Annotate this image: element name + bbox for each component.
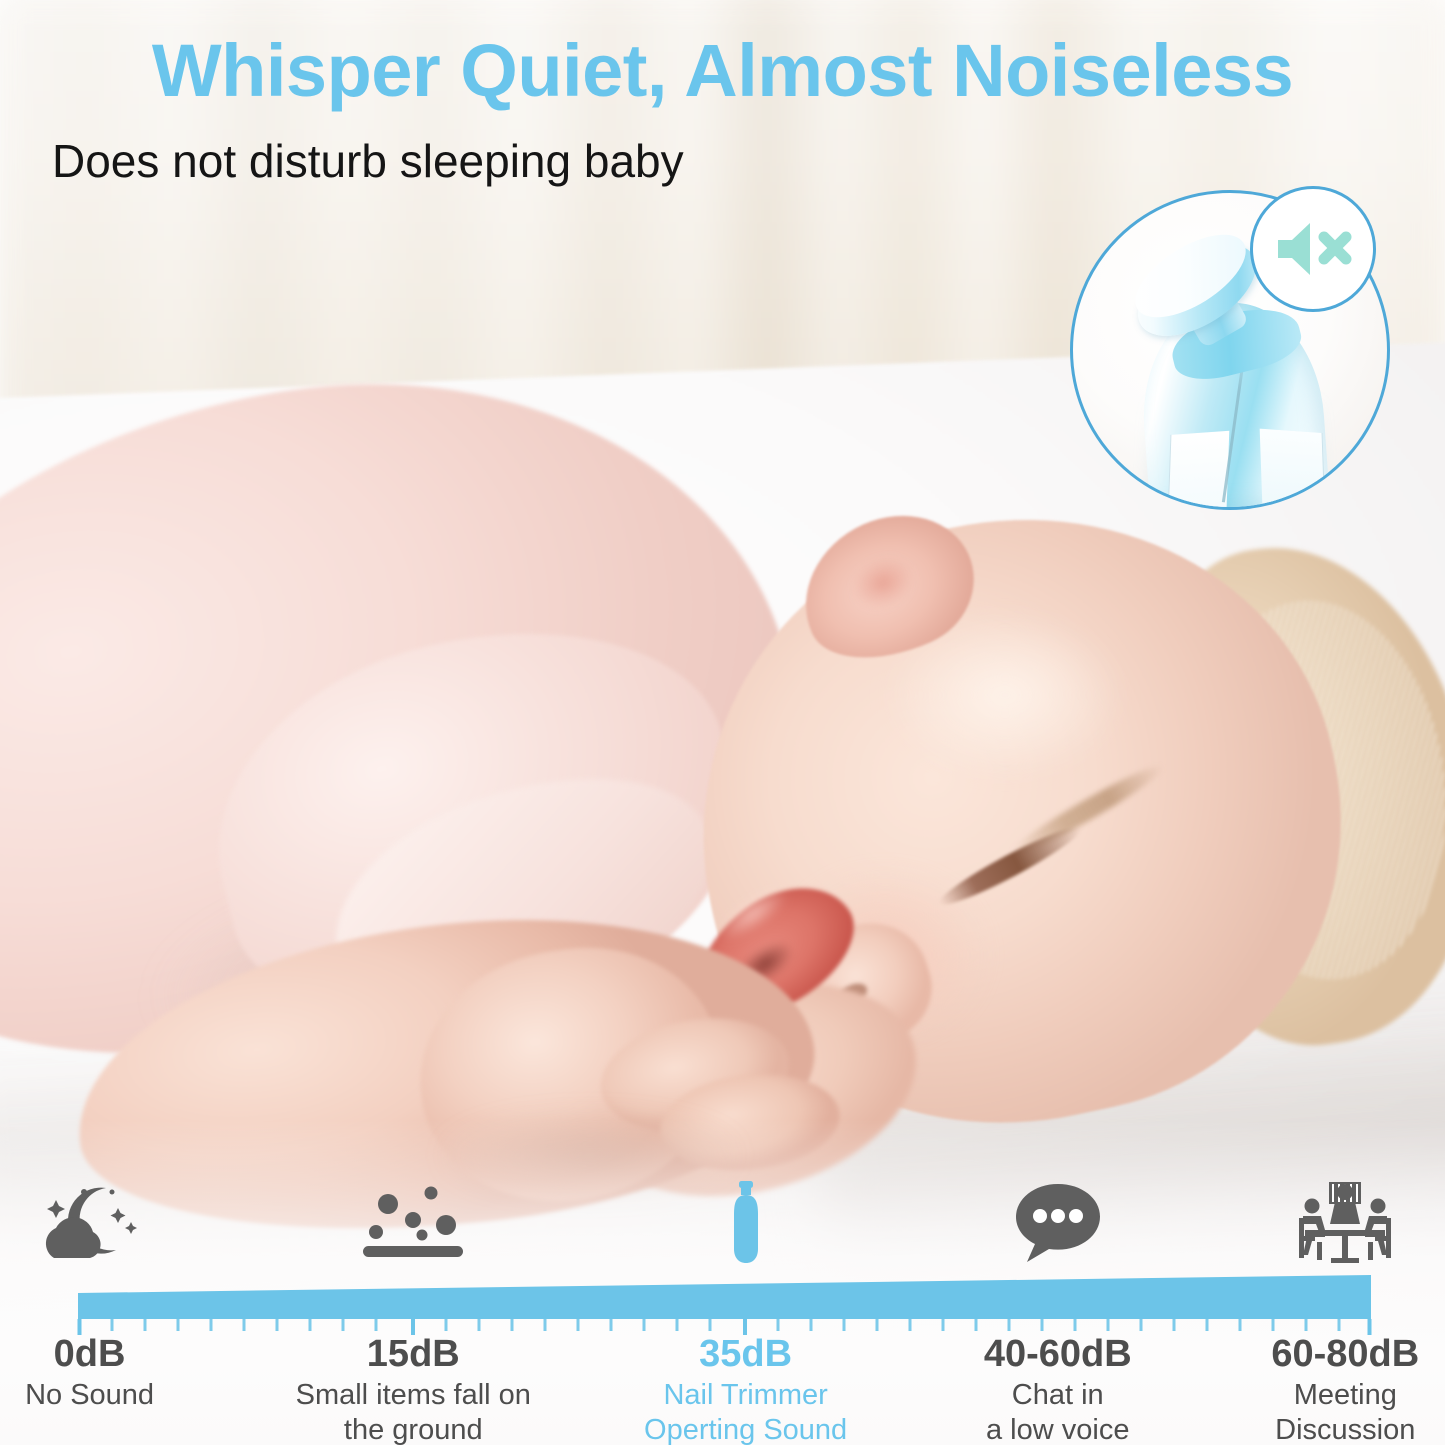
nail-trimmer-blade xyxy=(1168,431,1230,510)
scale-db-description: No Sound xyxy=(25,1378,154,1413)
chat-bubble-icon xyxy=(1012,1180,1104,1271)
scale-icon-row xyxy=(0,1185,1445,1271)
meeting-people-icon xyxy=(1297,1180,1393,1271)
scale-db-description: Small items fall on xyxy=(296,1378,531,1413)
scale-label-15db: 15dB Small items fall on the ground xyxy=(296,1335,531,1445)
scale-label-40-60db: 40-60dB Chat in a low voice xyxy=(984,1335,1132,1445)
product-inset xyxy=(1070,190,1390,510)
decibel-scale: 0dB No Sound 15dB Small items fall on th… xyxy=(0,1185,1445,1445)
scale-db-description: Nail Trimmer xyxy=(644,1378,847,1413)
scale-db-value: 40-60dB xyxy=(984,1335,1132,1375)
scale-db-description: Chat in xyxy=(984,1378,1132,1413)
scale-db-description: the ground xyxy=(296,1413,531,1445)
nail-trimmer-blade xyxy=(1260,429,1326,510)
page-title: Whisper Quiet, Almost Noiseless xyxy=(0,28,1445,113)
decibel-ruler xyxy=(0,1263,1445,1335)
scale-db-description: Discussion xyxy=(1271,1413,1419,1445)
page-subtitle: Does not disturb sleeping baby xyxy=(52,134,684,188)
scale-label-35db: 35dB Nail Trimmer Operting Sound xyxy=(644,1335,847,1445)
moon-cloud-stars-icon xyxy=(38,1180,142,1271)
promo-image-root: Whisper Quiet, Almost Noiseless Does not… xyxy=(0,0,1445,1445)
scale-db-value: 60-80dB xyxy=(1271,1335,1419,1375)
scale-db-value: 0dB xyxy=(25,1335,154,1375)
scale-db-value: 35dB xyxy=(644,1335,847,1375)
scale-label-0db: 0dB No Sound xyxy=(25,1335,154,1413)
scale-db-description: a low voice xyxy=(984,1413,1132,1445)
speaker-mute-icon xyxy=(1250,186,1376,312)
scale-db-description: Meeting xyxy=(1271,1378,1419,1413)
scale-label-60-80db: 60-80dB Meeting Discussion xyxy=(1271,1335,1419,1445)
nail-trimmer-icon xyxy=(723,1180,769,1271)
scale-db-description: Operting Sound xyxy=(644,1413,847,1445)
falling-items-icon xyxy=(358,1180,468,1271)
scale-db-value: 15dB xyxy=(296,1335,531,1375)
